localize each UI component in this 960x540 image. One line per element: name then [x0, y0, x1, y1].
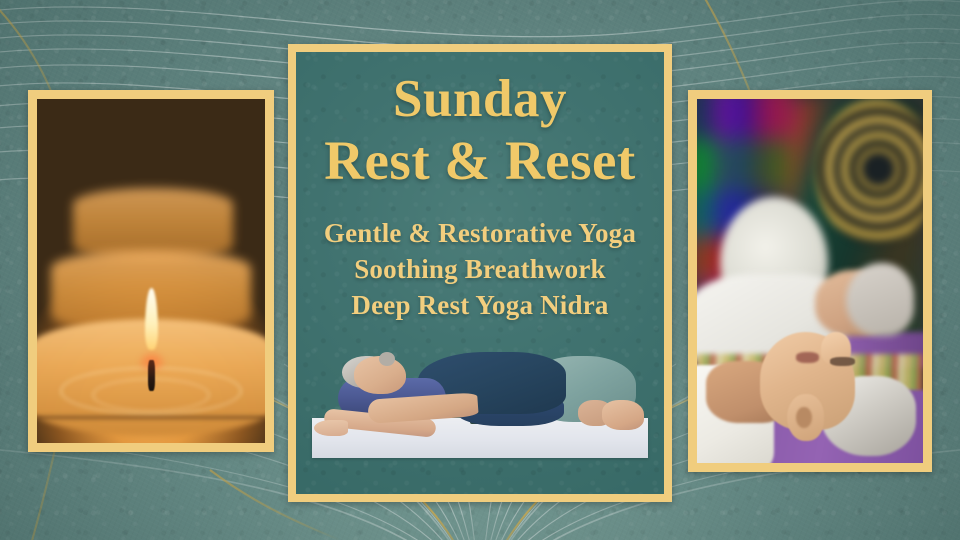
- center-text-panel: Sunday Rest & Reset Gentle & Restorative…: [296, 52, 664, 494]
- candle-base-shadow: [37, 416, 265, 419]
- center-text-panel-frame: Sunday Rest & Reset Gentle & Restorative…: [288, 44, 672, 502]
- foreground-person-eye: [830, 357, 855, 366]
- background-person-hair: [846, 263, 914, 336]
- savasana-photo-frame: [688, 90, 932, 472]
- candle-flame-top: [137, 127, 173, 182]
- pose-foot-front: [602, 400, 644, 430]
- offering-item-2: Soothing Breathwork: [324, 252, 636, 288]
- offerings-list: Gentle & Restorative Yoga Soothing Breat…: [324, 216, 636, 324]
- pose-hair-bun: [379, 352, 395, 366]
- candle-wick: [148, 360, 155, 391]
- restorative-pose-photo: [306, 348, 654, 466]
- candle-photo-frame: [28, 90, 274, 452]
- candle-photo-inner: [37, 99, 265, 443]
- poster-title-line-2: Rest & Reset: [324, 133, 635, 190]
- poster-canvas: Sunday Rest & Reset Gentle & Restorative…: [0, 0, 960, 540]
- savasana-photo-inner: [697, 99, 923, 463]
- savasana-photo: [697, 99, 923, 463]
- pose-hand: [314, 420, 348, 436]
- candle-photo: [37, 99, 265, 443]
- offering-item-3: Deep Rest Yoga Nidra: [324, 288, 636, 324]
- foreground-person-mouth: [796, 352, 819, 363]
- offering-item-1: Gentle & Restorative Yoga: [324, 216, 636, 252]
- poster-title-line-1: Sunday: [393, 72, 567, 127]
